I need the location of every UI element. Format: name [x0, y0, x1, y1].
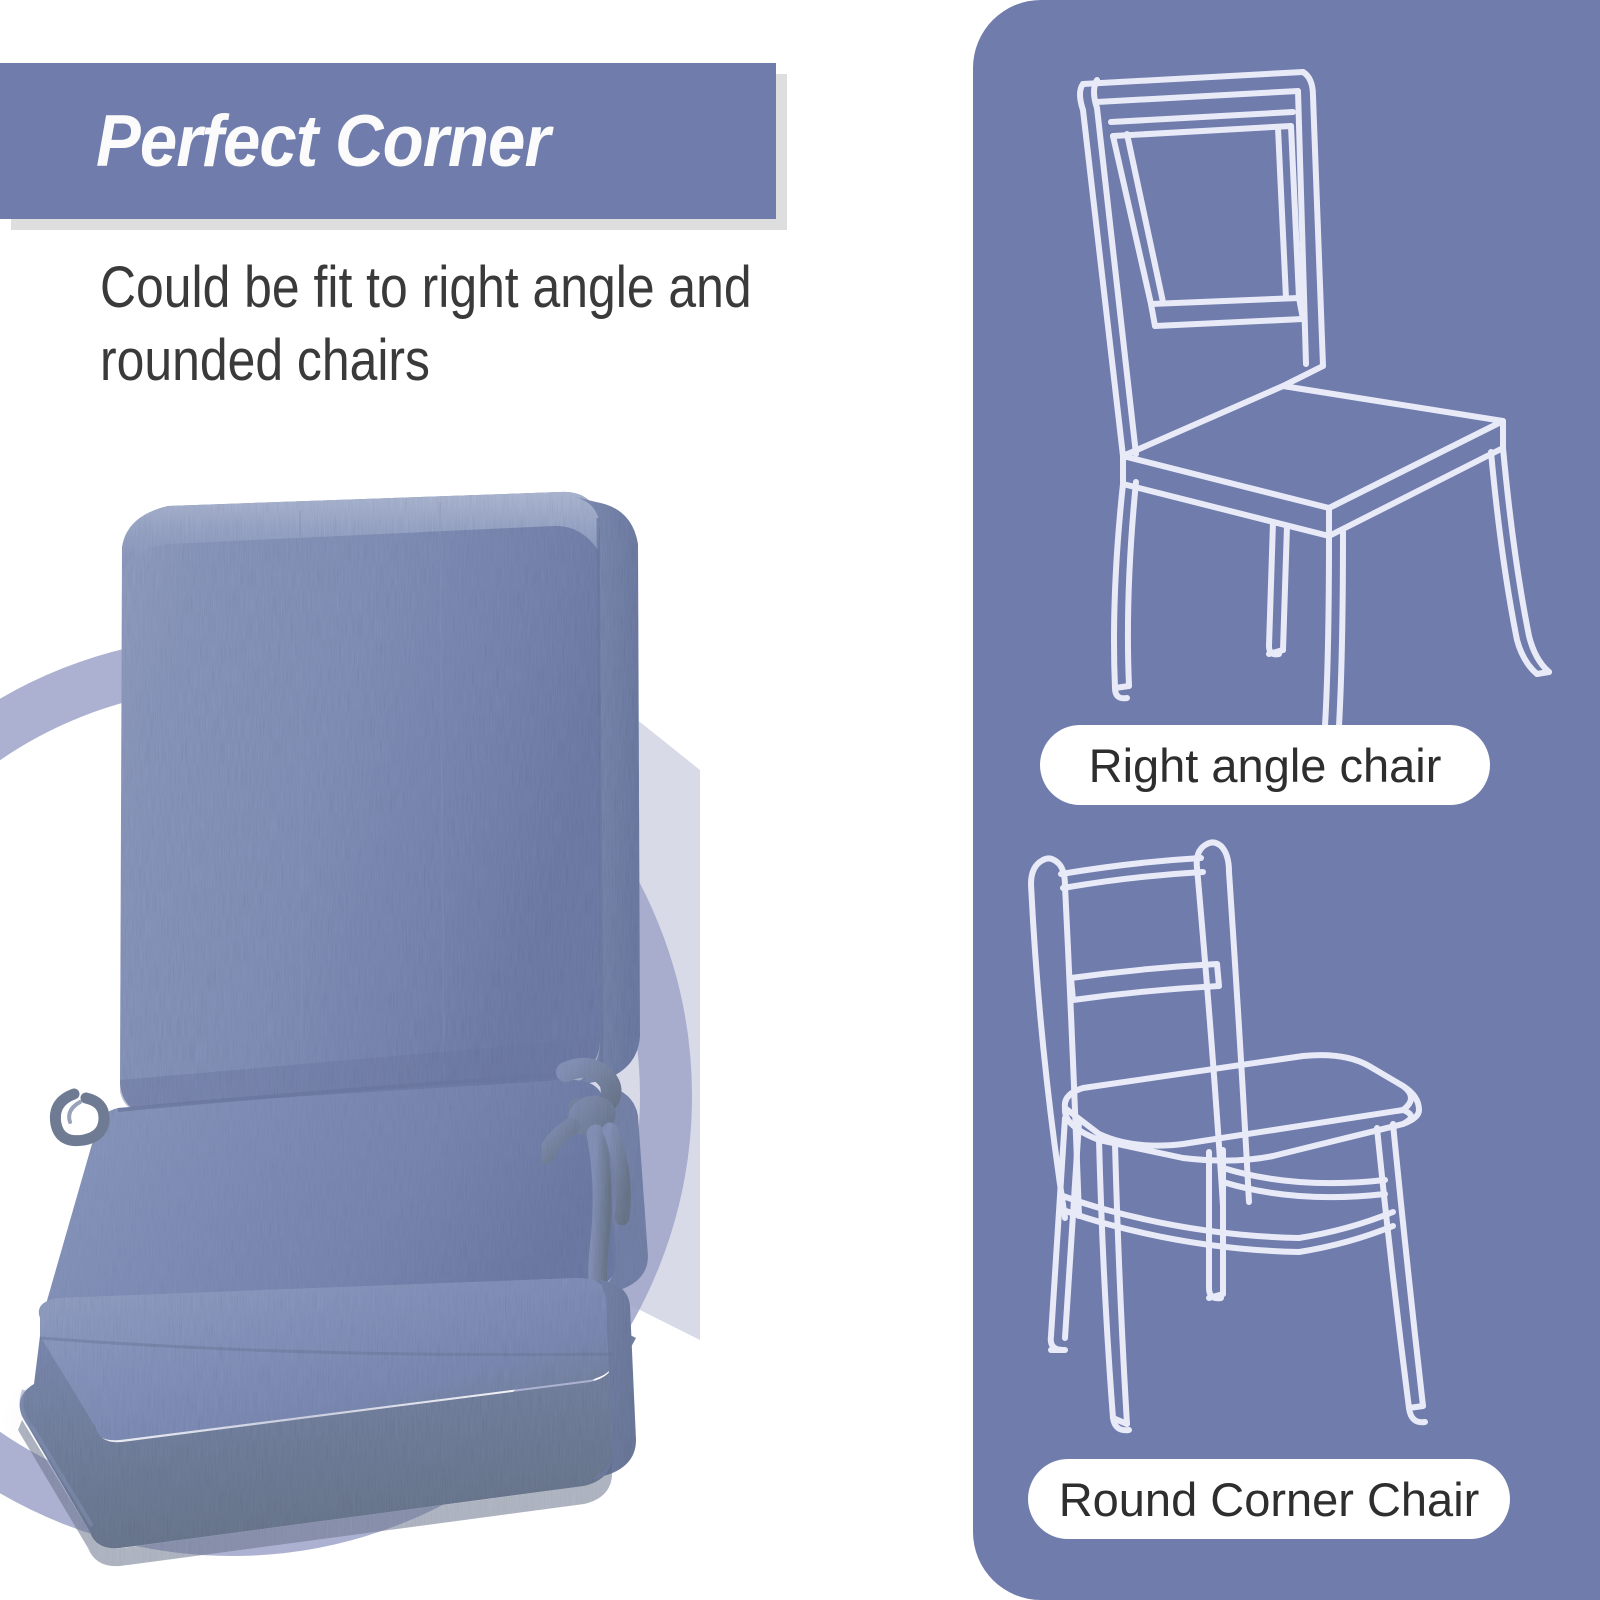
label-right-angle-chair: Right angle chair: [1040, 725, 1490, 805]
right-angle-chair-icon: [973, 36, 1600, 726]
product-photo-cushion: [0, 440, 700, 1580]
cushion-seat: [18, 1278, 636, 1566]
label-right-angle-chair-text: Right angle chair: [1089, 738, 1442, 793]
title-banner: Perfect Corner: [0, 63, 776, 219]
round-corner-chair-icon: [973, 818, 1600, 1468]
cushion-tie-left: [55, 1094, 104, 1141]
backrest-front-face: [120, 492, 600, 1113]
subtitle-text: Could be fit to right angle and rounded …: [100, 252, 814, 397]
cushion-backrest: [120, 492, 640, 1114]
label-round-corner-chair-text: Round Corner Chair: [1059, 1472, 1480, 1527]
label-round-corner-chair: Round Corner Chair: [1028, 1459, 1510, 1539]
chair-types-panel: Right angle chair: [973, 0, 1600, 1600]
left-content-column: Perfect Corner Could be fit to right ang…: [0, 0, 973, 1600]
page-title: Perfect Corner: [96, 100, 550, 183]
